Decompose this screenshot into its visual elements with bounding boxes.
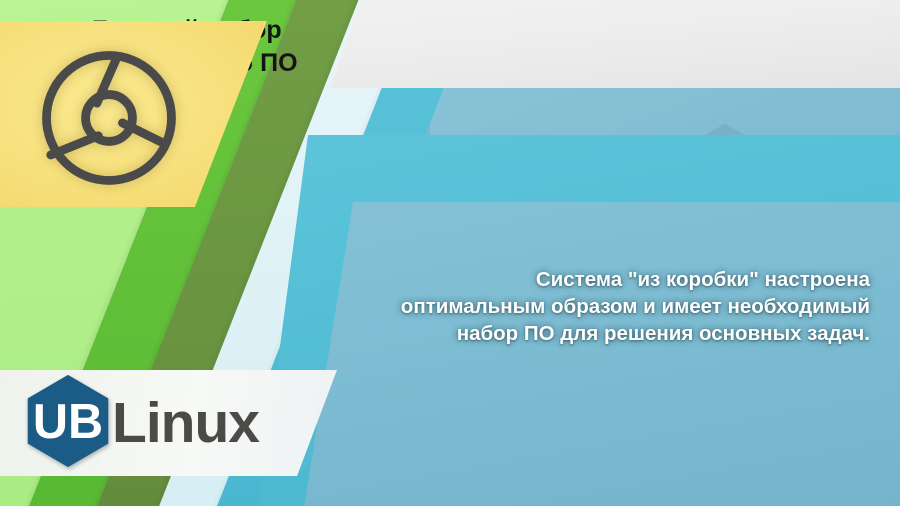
content-panel-inner-blue: [300, 202, 900, 506]
brand-logo: UB Linux: [26, 374, 259, 468]
presentation-slide: UB Богатый набор прикладного ПО Система …: [0, 0, 900, 506]
brand-wordmark: Linux: [112, 395, 259, 452]
chromium-browser-icon: [38, 47, 180, 189]
ub-hexagon-label: UB: [33, 395, 103, 449]
ub-hexagon-icon: UB: [26, 374, 110, 468]
slide-body-text: Система "из коробки" настроена оптимальн…: [400, 266, 870, 347]
title-panel: [330, 0, 900, 88]
